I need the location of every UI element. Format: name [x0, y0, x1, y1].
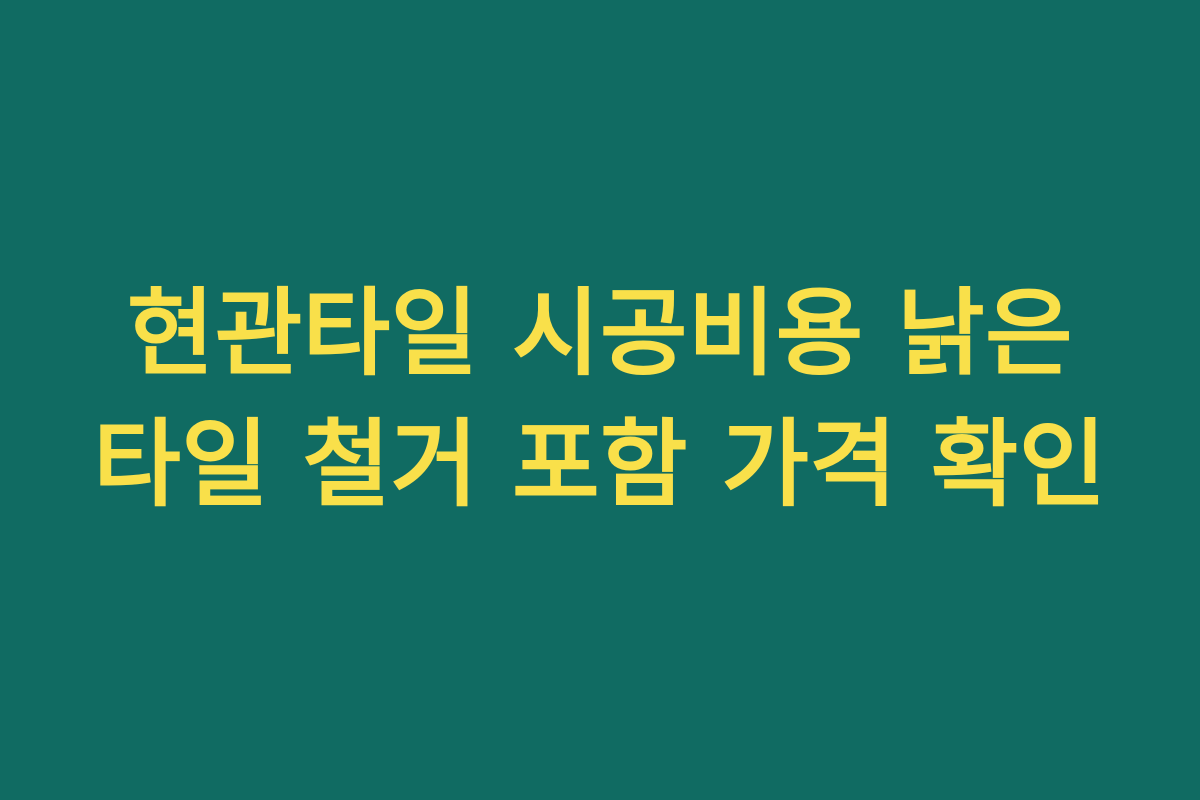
banner-canvas: 현관타일 시공비용 낡은 타일 철거 포함 가격 확인	[0, 0, 1200, 800]
page-title: 현관타일 시공비용 낡은 타일 철거 포함 가격 확인	[88, 269, 1112, 531]
